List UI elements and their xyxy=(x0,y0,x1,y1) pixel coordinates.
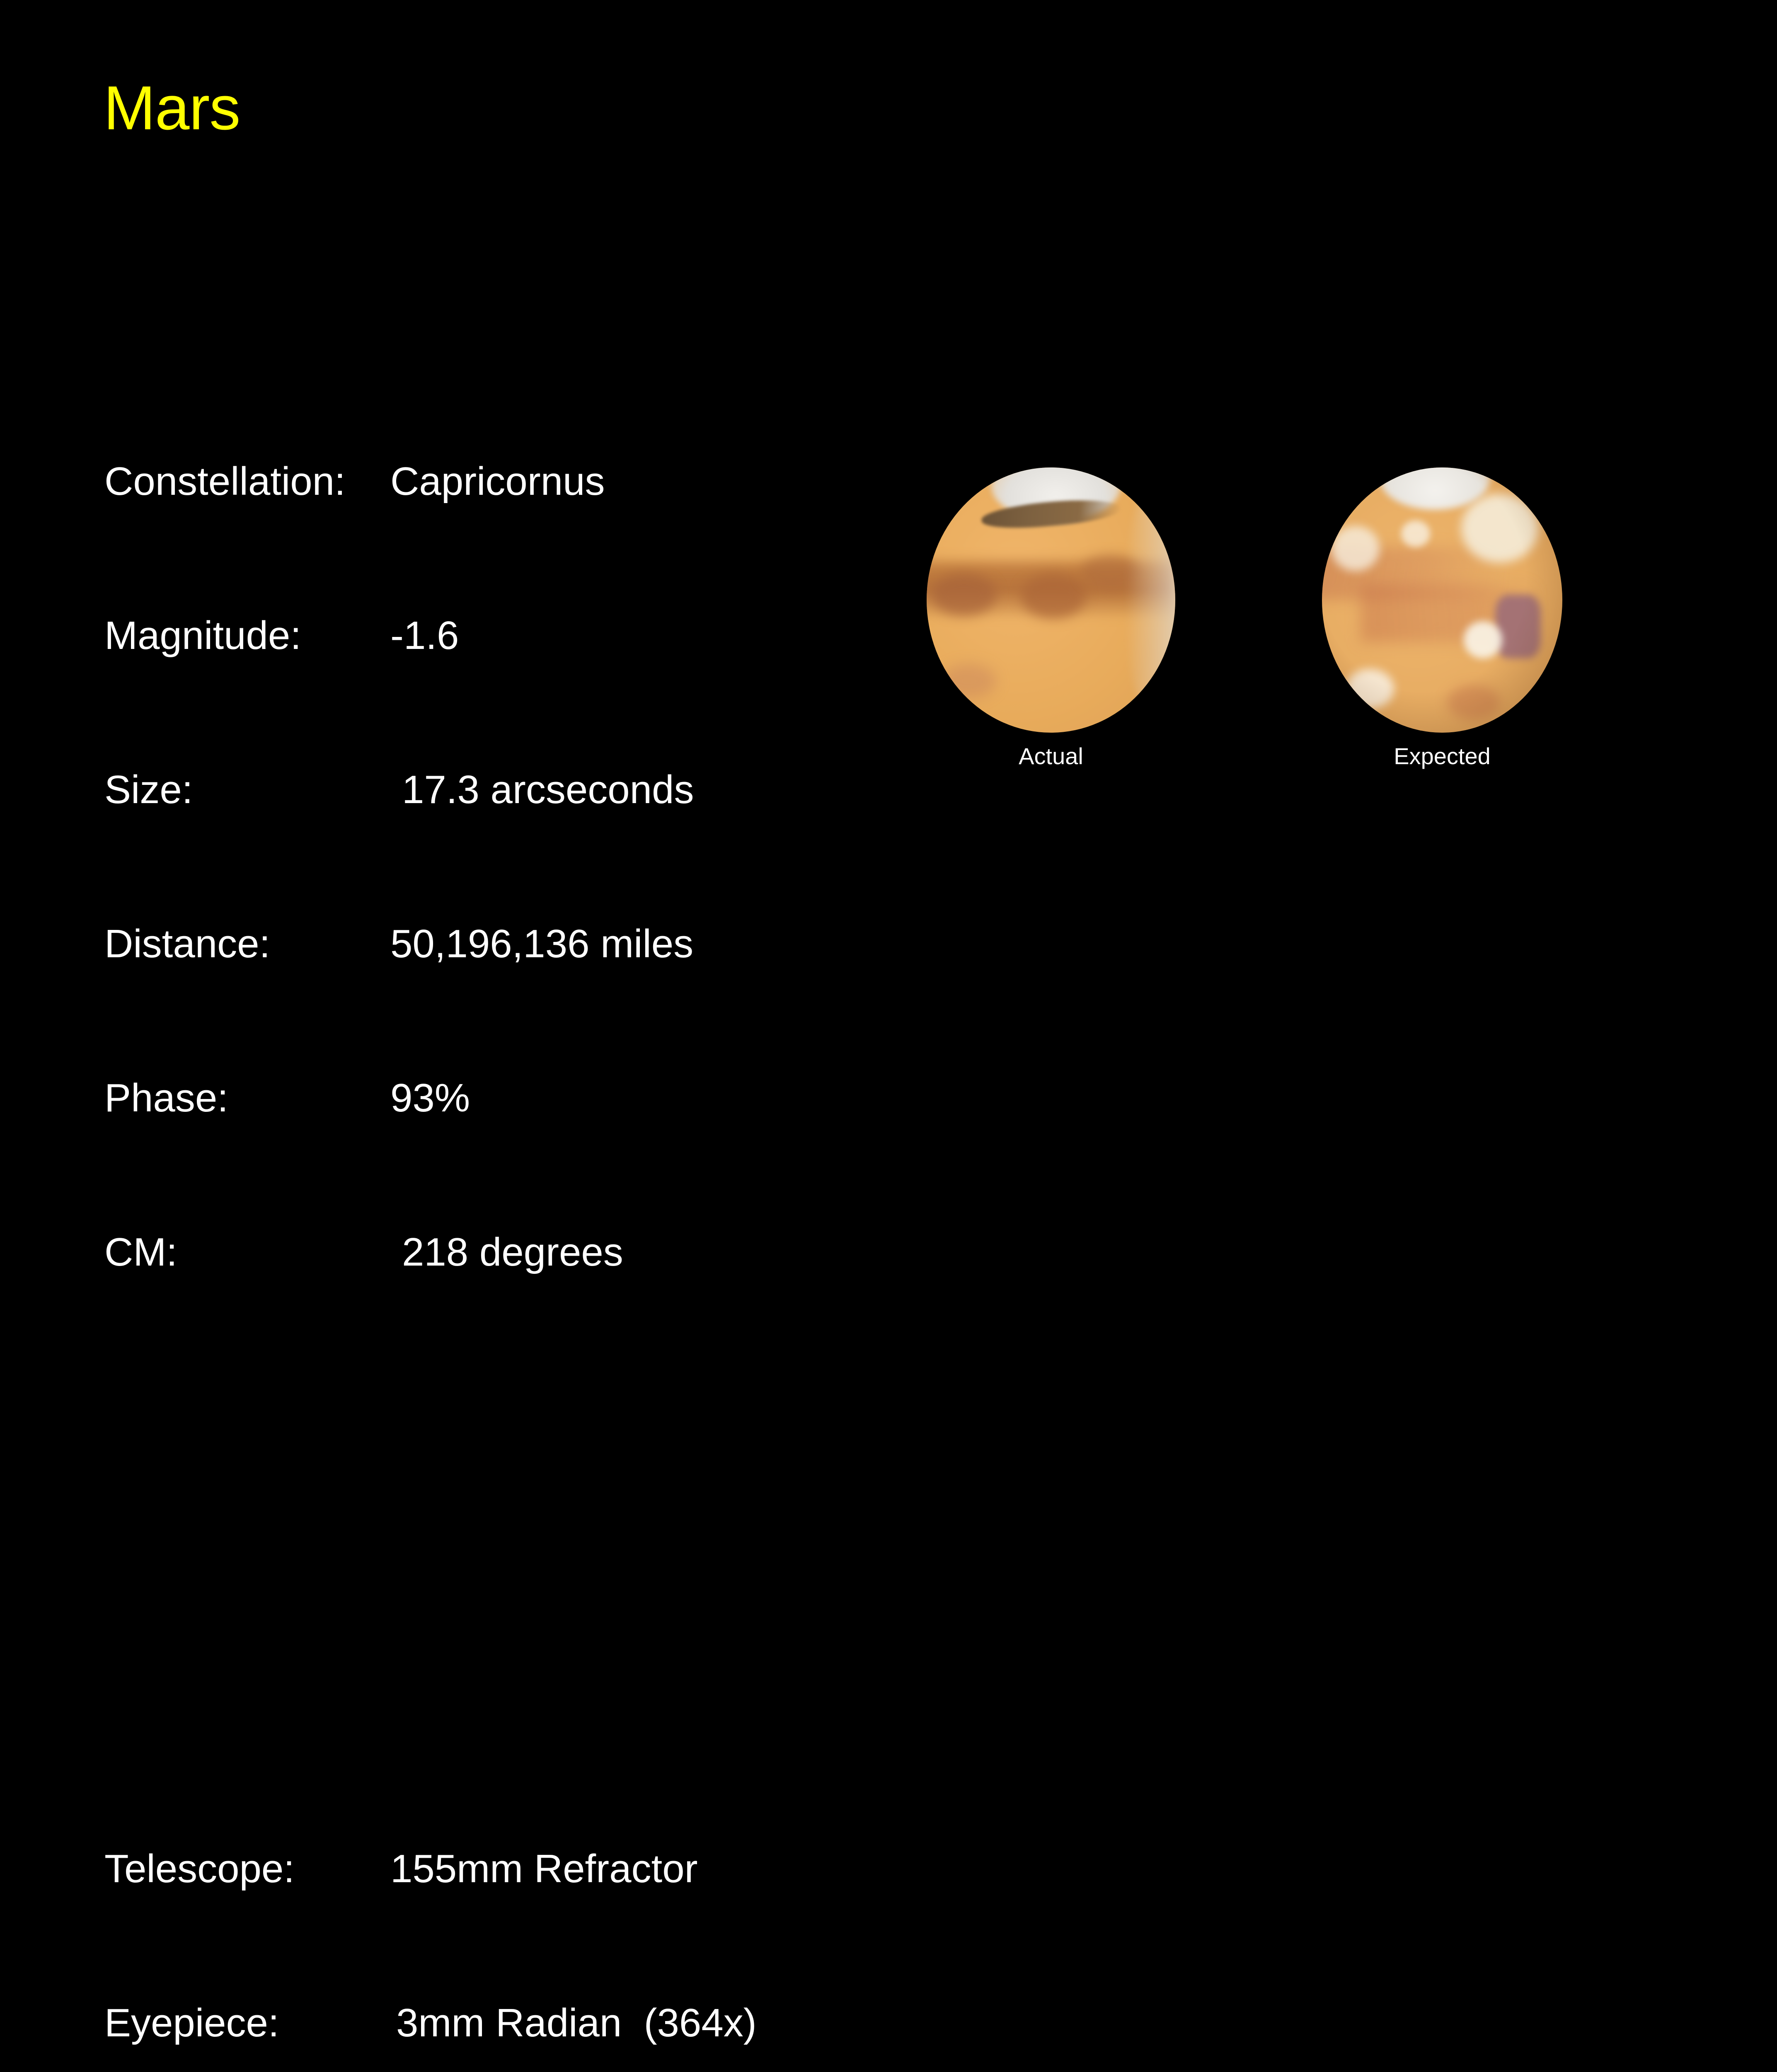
dark-marking-west xyxy=(932,574,996,616)
observation-block: Constellation:Capricornus Magnitude:-1.6… xyxy=(104,353,757,1381)
detail-value: 50,196,136 miles xyxy=(390,918,693,970)
detail-value: 155mm Refractor xyxy=(390,1843,698,1895)
figure-expected: Expected xyxy=(1322,467,1562,733)
detail-label: Constellation: xyxy=(104,456,390,507)
detail-label: Distance: xyxy=(104,918,390,970)
faint-marking xyxy=(942,664,996,698)
figure-actual: Actual xyxy=(927,467,1175,733)
detail-row: Phase:93% xyxy=(104,1072,757,1124)
detail-label: Eyepiece: xyxy=(104,1997,390,2049)
detail-value: -1.6 xyxy=(390,610,459,661)
mars-disc-actual xyxy=(927,467,1175,733)
mars-disc-expected xyxy=(1322,467,1562,733)
detail-label: Phase: xyxy=(104,1072,390,1124)
detail-label: Magnitude: xyxy=(104,610,390,661)
detail-row: Constellation:Capricornus xyxy=(104,456,757,507)
limb-brightening xyxy=(1126,483,1175,716)
detail-value: 218 degrees xyxy=(390,1227,623,1278)
page-title: Mars xyxy=(104,77,240,139)
figure-caption-actual: Actual xyxy=(927,743,1175,770)
observation-details: Constellation:Capricornus Magnitude:-1.6… xyxy=(104,199,757,2072)
dark-marking-mid xyxy=(1021,574,1086,619)
detail-row: Magnitude:-1.6 xyxy=(104,610,757,661)
limb-shading xyxy=(1322,467,1562,733)
detail-label: Size: xyxy=(104,764,390,816)
detail-value: Capricornus xyxy=(390,456,605,507)
detail-value: 3mm Radian (364x) xyxy=(390,1997,757,2049)
detail-row: Telescope:155mm Refractor xyxy=(104,1843,757,1895)
detail-label: Telescope: xyxy=(104,1843,390,1895)
detail-value: 17.3 arcseconds xyxy=(390,764,694,816)
detail-row: CM:218 degrees xyxy=(104,1227,757,1278)
detail-label: CM: xyxy=(104,1227,390,1278)
detail-value: 93% xyxy=(390,1072,470,1124)
equipment-block: Telescope:155mm Refractor Eyepiece:3mm R… xyxy=(104,1740,757,2072)
figure-caption-expected: Expected xyxy=(1322,743,1562,770)
detail-row: Distance:50,196,136 miles xyxy=(104,918,757,970)
block-spacer xyxy=(104,1535,757,1586)
detail-row: Size:17.3 arcseconds xyxy=(104,764,757,816)
detail-row: Eyepiece:3mm Radian (364x) xyxy=(104,1997,757,2049)
